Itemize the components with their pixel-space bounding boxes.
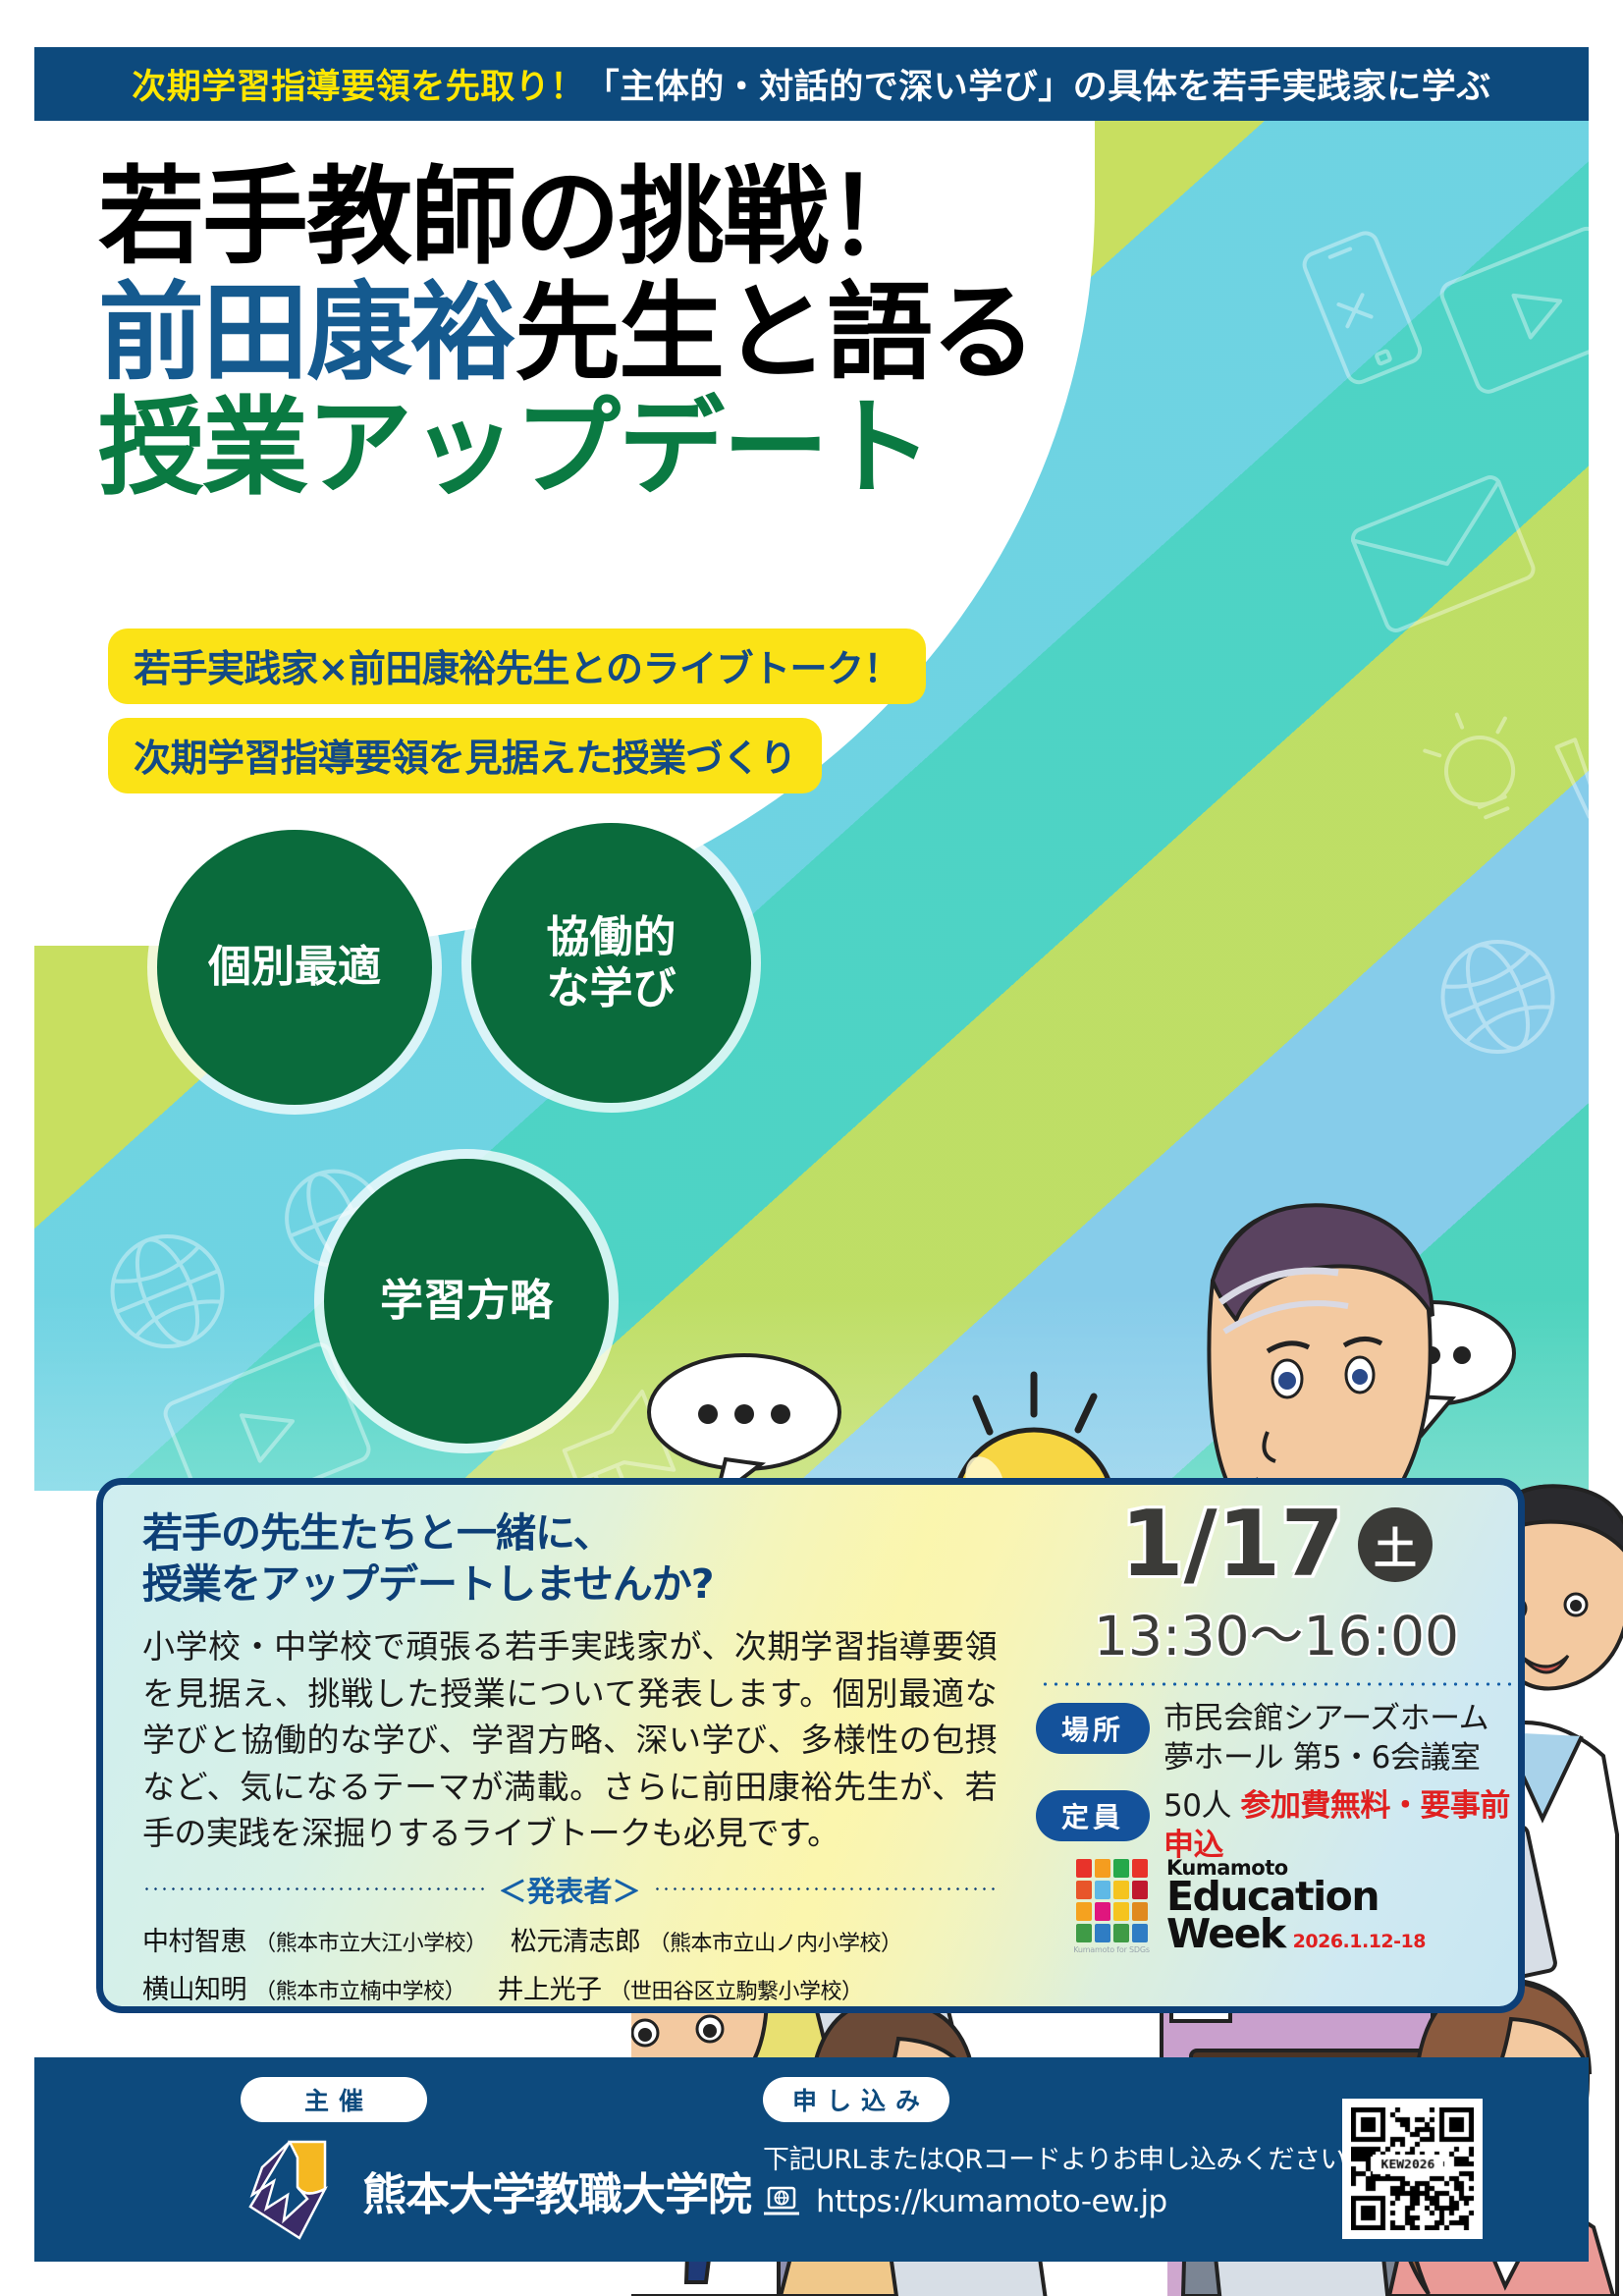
title-line-2-name: 前田康裕 [98,272,514,395]
kew-logo-text: Kumamoto Education Week 2026.1.12-18 [1166,1858,1426,1954]
details-headline: 若手の先生たちと一緒に、 授業をアップデートしませんか? [142,1508,997,1610]
title-line-3: 授業アップデート [98,398,1035,500]
apply-url-link[interactable]: https://kumamoto-ew.jp [816,2184,1167,2219]
details-headline-line2: 授業をアップデートしませんか? [142,1559,997,1611]
subtitle-pills: 若手実践家×前田康裕先生とのライブトーク！ 次期学習指導要領を見据えた授業づくり [108,629,926,793]
top-banner-rest: 「主体的・対話的で深い学び」の具体を若手実践家に学ぶ [585,68,1491,107]
apply-url-row[interactable]: https://kumamoto-ew.jp [763,2184,1346,2219]
venue-row: 場所 市民会館シアーズホーム 夢ホール 第5・6会議室 [1036,1700,1517,1777]
divider-dots-left [142,1887,487,1890]
kew-line-3: Week [1166,1914,1285,1954]
details-panel: 若手の先生たちと一緒に、 授業をアップデートしませんか? 小学校・中学校で頑張る… [96,1478,1525,2013]
top-banner-text: 次期学習指導要領を先取り！「主体的・対話的で深い学び」の具体を若手実践家に学ぶ [132,59,1491,109]
pill-1: 若手実践家×前田康裕先生とのライブトーク！ [108,629,926,704]
kumamoto-education-week-logo: Kumamoto for SDGs Kumamoto Education Wee… [1070,1858,1426,1954]
speakers-divider: ＜発表者＞ [142,1869,997,1910]
kumamoto-university-logo-icon [241,2138,335,2242]
speaker-school: （熊本市立楠中学校） [254,1980,465,2004]
main-title: 若手教師の挑戦！ 前田康裕先生と語る 授業アップデート [98,167,1035,500]
speaker-name: 横山知明 [142,1975,246,2005]
kew-line-3-row: Week 2026.1.12-18 [1166,1914,1426,1954]
qr-code[interactable] [1342,2099,1483,2239]
event-date: 1/17 [1120,1499,1344,1590]
apply-tag: 申し込み [763,2077,949,2122]
divider-dots-right [653,1887,998,1890]
details-right-column: 1/17 土 13:30〜16:00 場所 市民会館シアーズホーム 夢ホール 第… [1036,1499,1517,1876]
title-line-2-rest: 先生と語る [514,272,1035,395]
keyword-circle-1: 個別最適 [157,830,432,1105]
kew-dates: 2026.1.12-18 [1293,1933,1426,1951]
host-name: 熊本大学教職大学院 [362,2159,751,2222]
event-time: 13:30〜16:00 [1036,1592,1517,1670]
details-left-column: 若手の先生たちと一緒に、 授業をアップデートしませんか? 小学校・中学校で頑張る… [142,1508,997,2006]
capacity-value: 50人 参加費無料・要事前申込 [1163,1787,1517,1865]
venue-value: 市民会館シアーズホーム 夢ホール 第5・6会議室 [1163,1700,1488,1777]
capacity-row: 定員 50人 参加費無料・要事前申込 [1036,1787,1517,1865]
speakers-label: ＜発表者＞ [499,1869,641,1910]
speaker-school: （熊本市立大江小学校） [254,1932,487,1956]
apply-description: 下記URLまたはQRコードよりお申し込みください [763,2138,1346,2176]
keyword-circle-3: 学習方略 [324,1159,609,1444]
venue-line-2: 夢ホール 第5・6会議室 [1163,1739,1488,1778]
details-headline-line1: 若手の先生たちと一緒に、 [142,1508,997,1559]
top-banner: 次期学習指導要領を先取り！「主体的・対話的で深い学び」の具体を若手実践家に学ぶ [34,47,1589,121]
speaker-school: （熊本市立山ノ内小学校） [648,1932,901,1956]
capacity-tag: 定員 [1036,1790,1150,1841]
top-banner-highlight: 次期学習指導要領を先取り！ [132,68,585,107]
details-body-text: 小学校・中学校で頑張る若手実践家が、次期学習指導要領を見据え、挑戦した授業につい… [142,1623,997,1857]
footer-host-block: 主催 熊本大学教職大学院 [241,2077,751,2242]
kew-logo-mark: Kumamoto for SDGs [1070,1859,1153,1954]
speaker-row-1: 中村智恵 （熊本市立大江小学校） 松元清志郎 （熊本市立山ノ内小学校） [142,1920,997,1958]
kew-logo-tagline: Kumamoto for SDGs [1070,1945,1153,1954]
event-date-row: 1/17 土 [1036,1499,1517,1590]
title-line-2: 前田康裕先生と語る [98,283,1035,385]
speaker-name: 中村智恵 [142,1927,246,1957]
keyword-circle-2: 協働的な学び [471,823,751,1103]
footer-apply-block: 申し込み 下記URLまたはQRコードよりお申し込みください https://ku… [763,2077,1346,2219]
schedule-divider-dots [1040,1682,1513,1686]
speaker-school: （世田谷区立駒繋小学校） [610,1980,863,2004]
speaker-name: 松元清志郎 [511,1927,641,1957]
venue-tag: 場所 [1036,1703,1150,1754]
title-line-1: 若手教師の挑戦！ [98,167,1035,269]
capacity-number: 50人 [1163,1788,1231,1824]
host-tag: 主催 [241,2077,427,2122]
day-of-week-badge: 土 [1358,1507,1433,1582]
venue-line-1: 市民会館シアーズホーム [1163,1700,1488,1739]
host-row: 熊本大学教職大学院 [241,2138,751,2242]
speaker-name: 井上光子 [497,1975,601,2005]
speaker-row-2: 横山知明 （熊本市立楠中学校） 井上光子 （世田谷区立駒繋小学校） [142,1968,997,2006]
laptop-globe-icon [763,2186,800,2217]
pill-2: 次期学習指導要領を見据えた授業づくり [108,718,822,793]
